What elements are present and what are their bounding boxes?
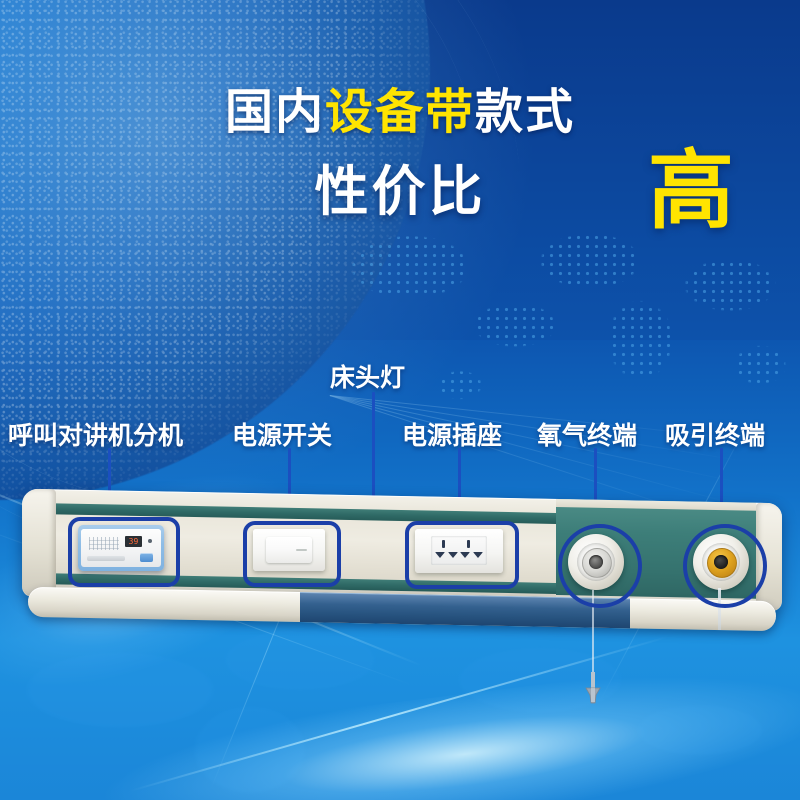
highlight-oxygen xyxy=(558,524,642,608)
highlight-power-switch xyxy=(243,521,341,587)
lower-world-map-silhouette xyxy=(0,620,800,800)
light-streak-3 xyxy=(130,636,669,792)
bottom-light-glow xyxy=(0,640,800,800)
highlight-intercom xyxy=(68,517,180,587)
headline-emphasis-character: 高 xyxy=(648,148,734,234)
pull-cord-handle-icon[interactable] xyxy=(584,672,602,706)
highlight-power-socket xyxy=(405,521,519,589)
product-poster: 国内设备带款式 性价比 高 呼叫对讲机分机 电源开关 床头灯 电源插座 氧气终端… xyxy=(0,0,800,800)
callout-label-power-socket: 电源插座 xyxy=(402,416,502,452)
callout-label-power-switch: 电源开关 xyxy=(232,416,332,452)
headline-line-1: 国内设备带款式 xyxy=(0,88,800,136)
headline-part-1: 国内 xyxy=(225,84,325,140)
headline-part-2: 设备带 xyxy=(325,84,475,140)
callout-label-bed-lamp: 床头灯 xyxy=(330,358,405,394)
highlight-suction xyxy=(683,524,767,608)
dotted-world-map xyxy=(340,215,800,450)
pull-handle-svg xyxy=(584,672,602,706)
callout-label-intercom: 呼叫对讲机分机 xyxy=(8,416,183,452)
headline-part-3: 款式 xyxy=(475,84,575,140)
callout-label-oxygen: 氧气终端 xyxy=(537,416,637,452)
device-end-cap-left xyxy=(22,489,56,598)
callout-label-suction: 吸引终端 xyxy=(665,416,765,452)
